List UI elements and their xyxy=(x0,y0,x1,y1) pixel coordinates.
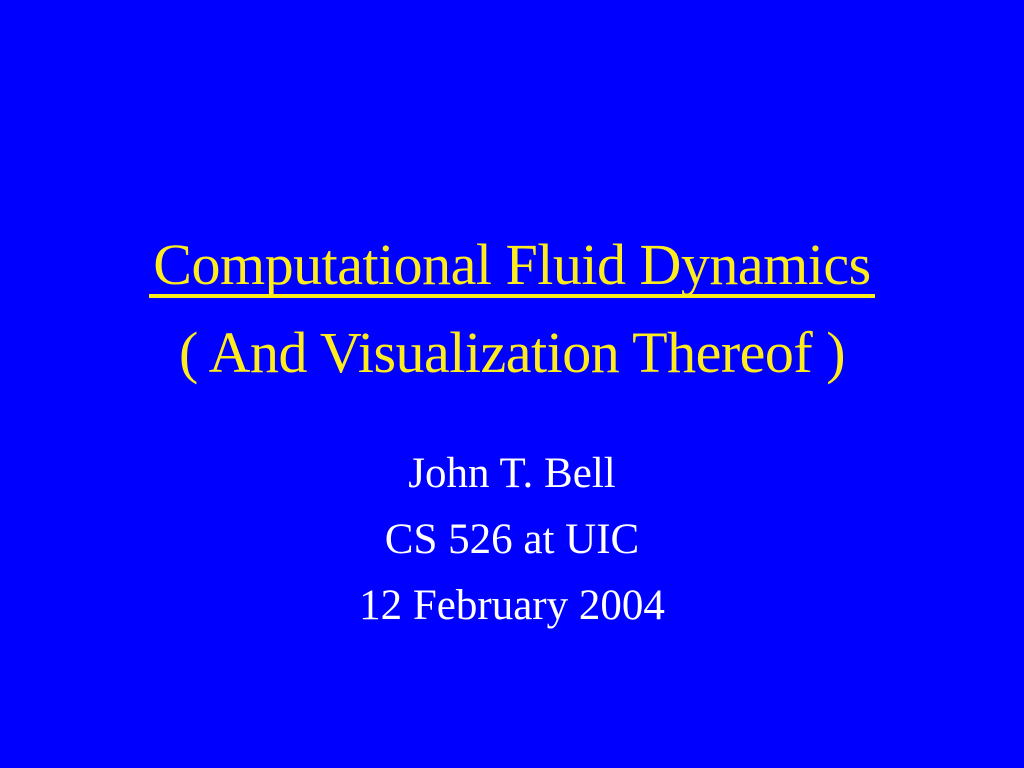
slide-title-line-1-text: Computational Fluid Dynamics xyxy=(153,232,870,297)
title-underline-rule xyxy=(149,294,874,298)
slide-subtitle-block: John T. Bell CS 526 at UIC 12 February 2… xyxy=(0,441,1024,639)
slide-title-line-1: Computational Fluid Dynamics xyxy=(153,236,870,298)
slide-title-line-2: ( And Visualization Thereof ) xyxy=(0,324,1024,382)
slide-title-block: Computational Fluid Dynamics ( And Visua… xyxy=(0,236,1024,382)
presentation-slide: Computational Fluid Dynamics ( And Visua… xyxy=(0,0,1024,768)
subtitle-course: CS 526 at UIC xyxy=(0,507,1024,573)
subtitle-author: John T. Bell xyxy=(0,441,1024,507)
subtitle-date: 12 February 2004 xyxy=(0,573,1024,639)
